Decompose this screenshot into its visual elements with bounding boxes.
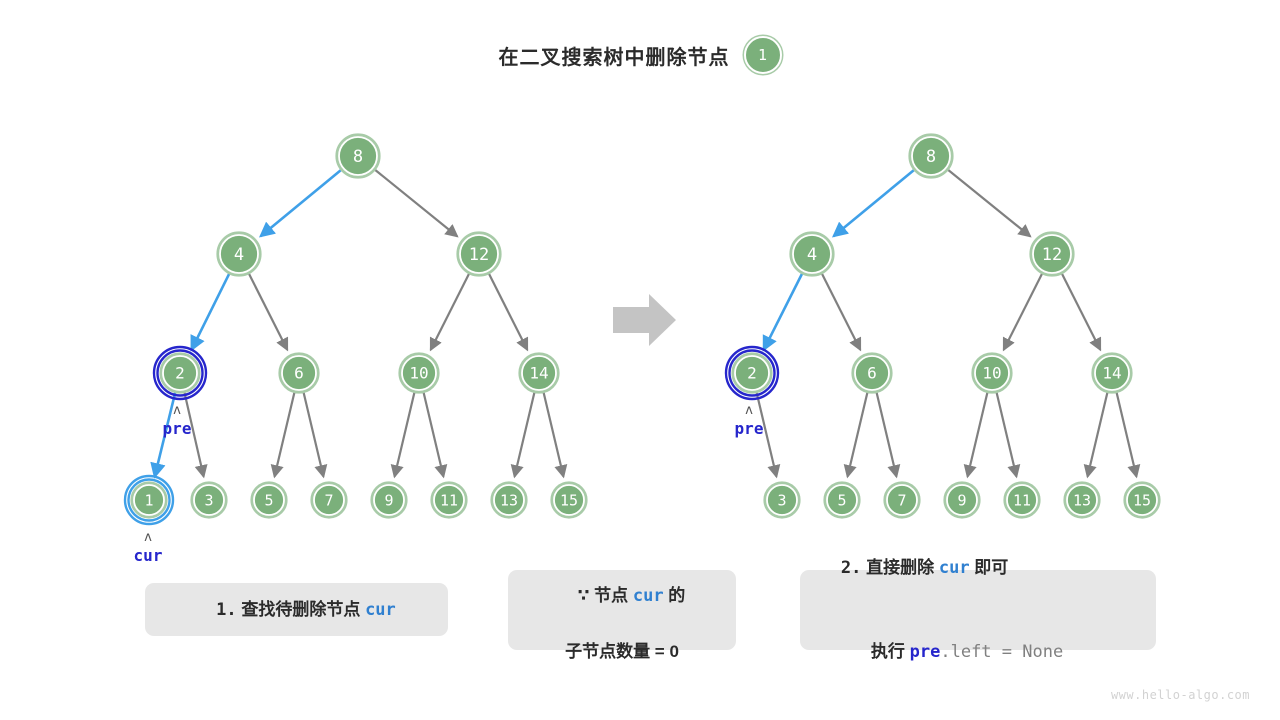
tree-node: 15 [552,483,586,517]
tree-node-label: 10 [409,364,428,383]
caption-reason: ∵ 节点 cur 的 子节点数量 = 0 [508,570,736,650]
tree-edge [948,170,1030,237]
caption-step-1-code: cur [365,600,396,620]
tree-edge [1117,392,1137,476]
tree-node: 3 [192,483,226,517]
tree-edge [304,392,324,476]
tree-node: 5 [252,483,286,517]
tree-node: 2 [154,347,206,399]
tree-edge [515,392,535,476]
caption-reason-line-1-b: 的 [664,586,686,605]
tree-node: 8 [337,135,379,177]
tree-node-label: 8 [353,147,363,167]
caption-step-1: 1. 查找待删除节点 cur [145,583,448,636]
tree-edge [877,392,897,476]
tree-node-label: 11 [1013,492,1031,510]
caret-up-icon: ʌ [144,530,152,545]
tree-edge [968,392,988,476]
tree-node-label: 13 [1073,492,1091,510]
caption-reason-line-2: 子节点数量 = 0 [508,638,736,666]
tree-edge [489,274,527,350]
tree-node: 13 [492,483,526,517]
tree-edge [1004,274,1042,350]
caption-step-1-prefix: 1. [216,600,236,620]
caption-step-2-code-pre: pre [910,642,941,662]
pointer-label-text: pre [163,419,192,438]
tree-edge [261,170,341,236]
pointer-label-text: pre [735,419,764,438]
tree-node-label: 3 [204,492,213,510]
tree-edge [1062,274,1100,350]
tree-node-label: 9 [957,492,966,510]
caption-step-1-line: 1. 查找待删除节点 cur [145,568,448,652]
tree-node: 14 [1093,354,1131,392]
tree-edge [997,392,1017,476]
tree-node-label: 7 [324,492,333,510]
tree-node-label: 14 [1102,364,1121,383]
tree-node: 14 [520,354,558,392]
tree-node: 13 [1065,483,1099,517]
step-transition-arrow [613,294,676,346]
tree-node: 6 [280,354,318,392]
tree-edge [375,170,457,237]
tree-node: 4 [218,233,260,275]
tree-node: 11 [1005,483,1039,517]
tree-node-label: 6 [294,364,304,383]
tree-edge [431,274,469,350]
tree-node: 3 [765,483,799,517]
tree-edge [764,274,802,350]
tree-node-label: 4 [234,245,244,265]
caption-step-2-line-1: 2. 直接删除 cur 即可 [822,526,1008,610]
tree-node: 10 [400,354,438,392]
site-watermark: www.hello-algo.com [1111,688,1250,702]
tree-node-label: 8 [926,147,936,167]
tree-node-label: 4 [807,245,817,265]
caption-step-2: 2. 直接删除 cur 即可 执行 pre.left = None [800,570,1156,650]
caption-step-2-line-2-a: 执行 [871,642,910,661]
caption-step-2-line-2-b: .left = None [940,642,1063,662]
tree-node-label: 12 [469,245,489,265]
caption-step-2-line-2: 执行 pre.left = None [822,610,1063,694]
tree-edge [275,392,295,476]
caption-step-2-line-1-a: 直接删除 [861,558,938,577]
caret-up-icon: ʌ [173,403,181,418]
tree-edge [192,274,230,350]
tree-node-label: 9 [384,492,393,510]
tree-edge [395,392,415,476]
tree-node: 7 [885,483,919,517]
caret-up-icon: ʌ [745,403,753,418]
tree-node-label: 2 [175,364,185,383]
tree-node: 12 [1031,233,1073,275]
tree-node-label: 14 [529,364,548,383]
tree-node: 6 [853,354,891,392]
tree-edge [834,170,914,236]
pointer-label-cur: ʌcur [134,530,163,565]
tree-node: 7 [312,483,346,517]
tree-node-label: 6 [867,364,877,383]
pointer-label-text: cur [134,546,163,565]
tree-node: 10 [973,354,1011,392]
tree-edge [424,392,444,476]
tree-node-label: 11 [440,492,458,510]
caption-reason-line-1: ∵ 节点 cur 的 [508,554,736,638]
tree-node: 1 [125,476,173,524]
tree-node-label: 13 [500,492,518,510]
tree-node: 9 [945,483,979,517]
tree-node-label: 10 [982,364,1001,383]
tree-node-label: 2 [747,364,757,383]
pointer-label-pre: ʌpre [735,403,764,438]
tree-edge [544,392,564,476]
tree-edge [1088,392,1108,476]
tree-edge [848,392,868,476]
tree-node: 12 [458,233,500,275]
caption-reason-code: cur [633,586,664,606]
tree-edge [249,274,287,350]
tree-node-label: 5 [837,492,846,510]
tree-node-label: 7 [897,492,906,510]
caption-step-2-code-cur: cur [939,558,970,578]
caption-step-2-prefix: 2. [841,558,861,578]
tree-node-label: 12 [1042,245,1062,265]
tree-node-label: 15 [560,492,578,510]
tree-node: 15 [1125,483,1159,517]
tree-node: 8 [910,135,952,177]
tree-node: 4 [791,233,833,275]
tree-node: 2 [726,347,778,399]
tree-node-label: 5 [264,492,273,510]
caption-step-1-text: 查找待删除节点 [237,600,365,619]
caption-reason-line-1-a: ∵ 节点 [578,586,633,605]
tree-node: 9 [372,483,406,517]
caption-step-2-line-1-b: 即可 [970,558,1009,577]
tree-node: 11 [432,483,466,517]
tree-node-label: 15 [1133,492,1151,510]
tree-node: 5 [825,483,859,517]
tree-edge [822,274,860,350]
tree-node-label: 3 [777,492,786,510]
tree-node-label: 1 [144,492,153,510]
